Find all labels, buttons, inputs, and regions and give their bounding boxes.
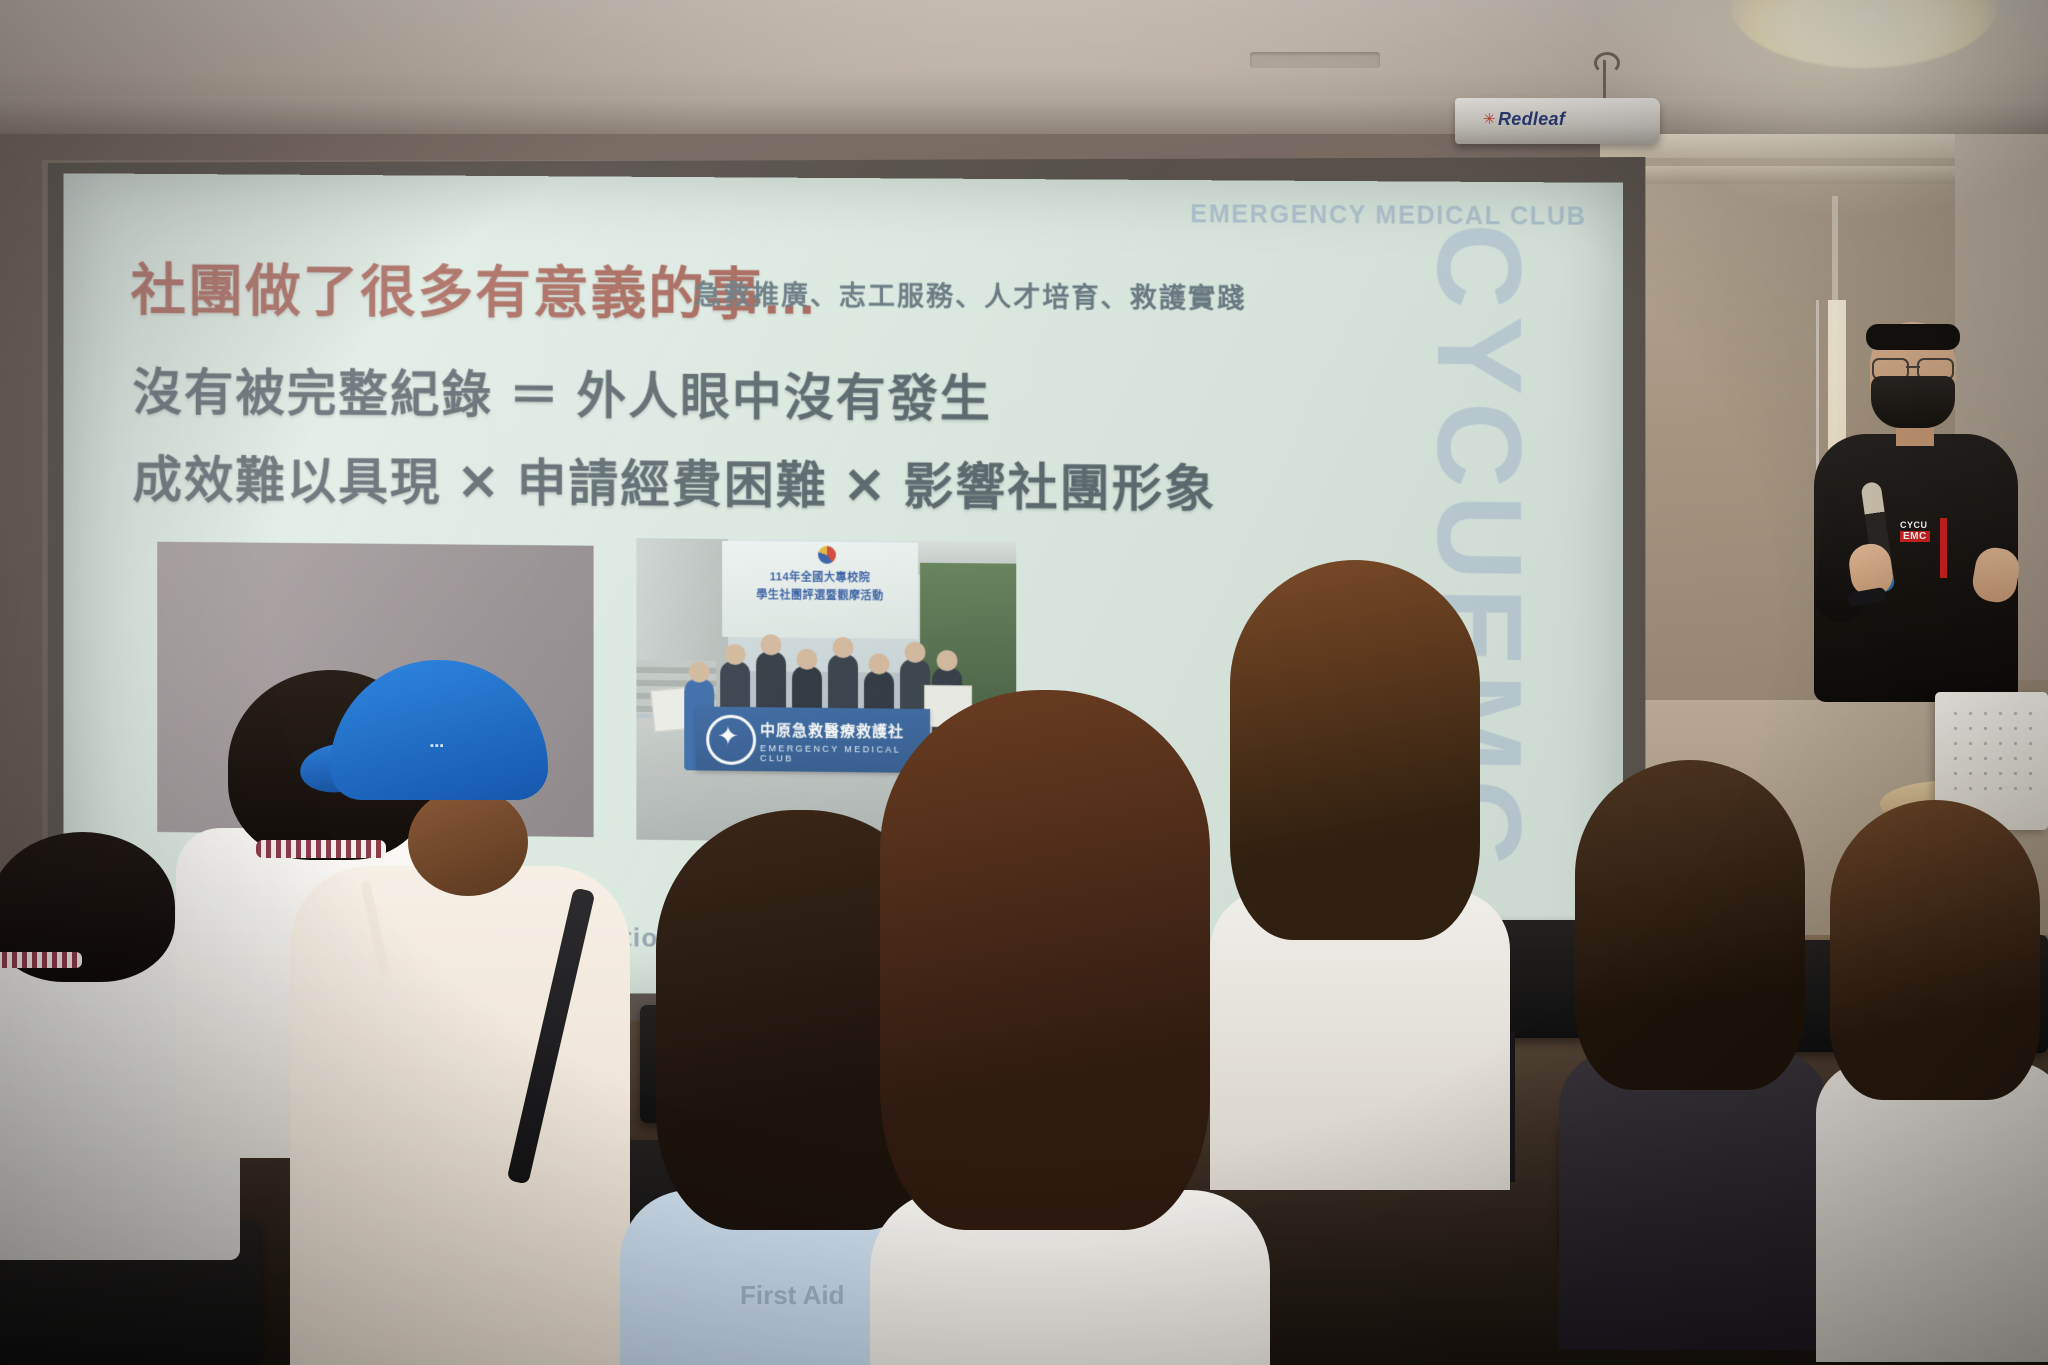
audience-shirt-text: First Aid [740,1280,844,1311]
audience-collar [256,840,386,858]
audience-hair [1830,800,2040,1100]
ceiling-vent [1250,52,1380,68]
redleaf-mark-icon: ✳ [1483,110,1496,128]
event-banner-line-1: 114年全國大專校院 [722,569,918,587]
audience-member-far-right [1830,800,2048,1365]
speaker-presenter: CYCU EMC [1792,322,2042,702]
event-logo-icon [818,546,836,564]
audience-hair [1230,560,1480,940]
podium-perforation [1948,706,2040,798]
audience-hair [1575,760,1805,1090]
shirt-logo-line-2: EMC [1900,531,1930,542]
screen-hook [1594,52,1620,74]
audience-member-long-hair-right [1230,560,1530,1260]
presentation-photo-scene: ✳ Redleaf EMERGENCY MEDICAL CLUB CYCUEMC… [0,0,2048,1365]
logo-red-bar [1940,518,1947,578]
slide-body-line-1: 沒有被完整紀錄 ＝ 外人眼中沒有發生 [133,353,992,432]
audience-hair-bun [408,788,528,896]
face-mask [1871,376,1955,428]
audience-member-dark-top-right [1575,760,1845,1360]
speaker-headband [1866,324,1960,350]
audience-torso [1816,1062,2048,1362]
audience-hair [880,690,1210,1230]
event-banner-line-2: 學生社團評選暨觀摩活動 [722,587,918,605]
photo-event-banner: 114年全國大專校院 學生社團評選暨觀摩活動 [722,541,918,639]
ceiling-bevel [0,96,2048,134]
projector-brand-label: Redleaf [1498,109,1565,130]
audience-collar [0,952,82,968]
slide-subtitle: 急救推廣、志工服務、人才培育、救護實踐 [694,273,1246,316]
speaker-shirt-logo: CYCU EMC [1900,518,1946,546]
audience-torso [1559,1050,1829,1350]
slide-body-line-2: 成效難以具現 ✕ 申請經費困難 ✕ 影響社團形象 [133,440,1217,521]
cap-logo-text: ▪▪▪ [430,740,445,752]
shirt-logo-line-1: CYCU [1900,520,1928,530]
star-of-life-icon: ✦ [714,721,742,753]
glasses-icon [1872,358,1954,376]
